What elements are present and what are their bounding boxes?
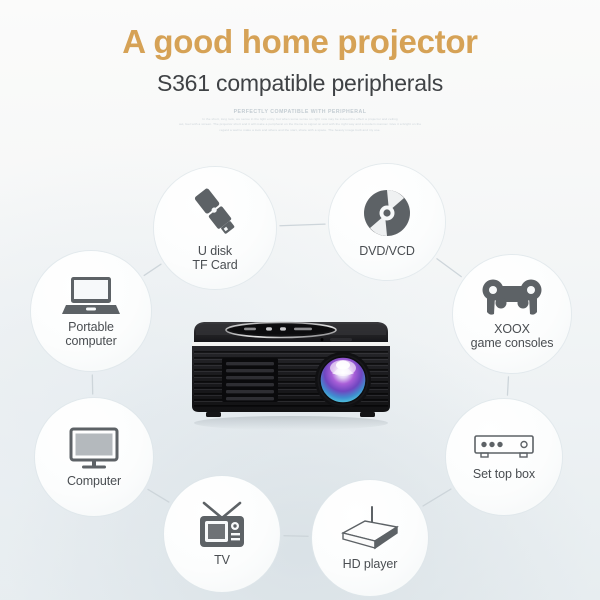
node-hd-player[interactable]: HD player (312, 480, 428, 596)
infographic-page: A good home projector S361 compatible pe… (0, 0, 600, 600)
home-projector (182, 302, 400, 430)
node-label: Portable computer (65, 320, 116, 349)
node-label: TV (214, 553, 230, 567)
connector-tv-to-computer (148, 489, 169, 502)
connector-set-top-box-to-hd-player (423, 489, 451, 506)
node-set-top-box[interactable]: Set top box (446, 399, 562, 515)
node-u-disk-tf-card[interactable]: U disk TF Card (154, 167, 276, 289)
connector-hd-player-to-tv (284, 536, 308, 537)
connector-dvd-vcd-to-xoox-game-consoles (437, 259, 461, 277)
connector-portable-computer-to-u-disk-tf-card (144, 264, 161, 275)
connector-xoox-game-consoles-to-set-top-box (507, 377, 508, 395)
node-label: Set top box (473, 467, 535, 481)
node-portable-computer[interactable]: Portable computer (31, 251, 151, 371)
node-label: HD player (343, 557, 398, 571)
connector-u-disk-tf-card-to-dvd-vcd (280, 224, 325, 226)
node-tv[interactable]: TV (164, 476, 280, 592)
laptop-icon (62, 274, 120, 316)
node-xoox-game-consoles[interactable]: XOOX game consoles (453, 255, 571, 373)
node-dvd-vcd[interactable]: DVD/VCD (329, 164, 445, 280)
node-label: U disk TF Card (192, 244, 237, 273)
gamepad-icon (481, 278, 543, 318)
node-computer[interactable]: Computer (35, 398, 153, 516)
disc-icon (360, 186, 414, 240)
monitor-icon (66, 426, 122, 470)
node-label: Computer (67, 474, 121, 488)
set-top-box-icon (473, 433, 535, 463)
node-label: DVD/VCD (359, 244, 415, 258)
retro-tv-icon (196, 501, 248, 549)
node-label: XOOX game consoles (471, 322, 554, 351)
usb-flash-drive-icon (187, 184, 243, 240)
media-box-icon (339, 505, 401, 553)
